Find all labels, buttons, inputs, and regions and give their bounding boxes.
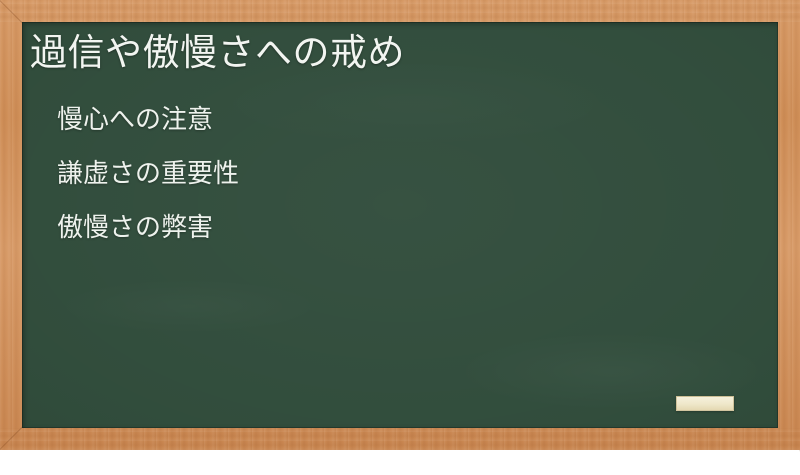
chalkboard-slide: 過信や傲慢さへの戒め 慢心への注意 謙虚さの重要性 傲慢さの弊害 — [0, 0, 800, 450]
bullet-item-3: 傲慢さの弊害 — [57, 214, 239, 240]
chalkboard-surface: 過信や傲慢さへの戒め 慢心への注意 謙虚さの重要性 傲慢さの弊害 — [22, 22, 778, 428]
chalk-eraser — [676, 396, 734, 411]
bullet-item-2: 謙虚さの重要性 — [57, 160, 239, 186]
slide-title: 過信や傲慢さへの戒め — [30, 30, 405, 76]
frame-miter-bottom-left — [0, 425, 24, 450]
bullet-item-1: 慢心への注意 — [57, 106, 239, 132]
frame-top-rail — [0, 0, 800, 22]
frame-bottom-rail — [0, 428, 800, 450]
frame-miter-top-left — [0, 0, 24, 25]
bullet-list: 慢心への注意 謙虚さの重要性 傲慢さの弊害 — [57, 106, 239, 240]
